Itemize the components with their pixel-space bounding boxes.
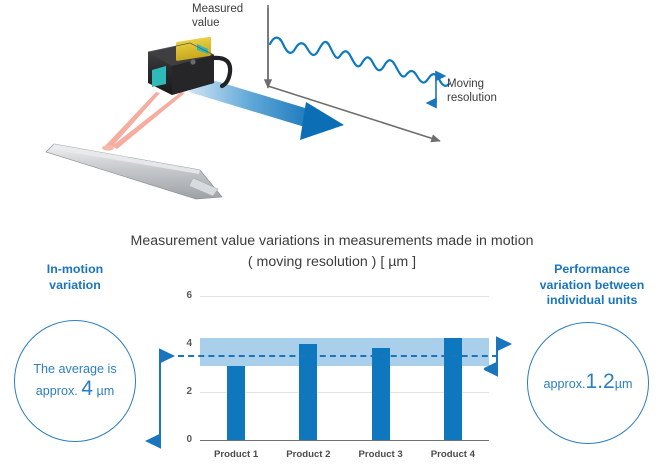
x-axis-category-label: Product 3	[346, 449, 416, 460]
y-axis-tick-label: 0	[178, 434, 192, 445]
in-motion-variation-heading: In-motion variation	[14, 262, 136, 293]
right-callout-unit: µm	[615, 377, 633, 391]
in-motion-variation-arrow	[140, 340, 180, 460]
x-axis-category-label: Product 4	[418, 449, 488, 460]
left-callout-value: 4	[81, 377, 93, 400]
bar	[372, 348, 390, 440]
right-callout-text: approx.1.2µm	[544, 371, 633, 395]
bar	[444, 338, 462, 440]
performance-variation-heading: Performance variation between individual…	[528, 262, 656, 309]
x-axis-category-label: Product 2	[273, 449, 343, 460]
left-callout-heading-line2: variation	[49, 278, 101, 292]
right-callout-heading-line3: individual units	[547, 293, 638, 307]
bar	[299, 344, 317, 440]
moving-resolution-label: Moving resolution	[447, 77, 537, 105]
measured-value-waveform-icon	[270, 38, 449, 86]
performance-variation-callout: approx.1.2µm	[527, 322, 649, 444]
laser-beam-icon	[102, 92, 185, 151]
measured-value-label: Measured value	[192, 2, 262, 30]
y-axis-tick-label: 6	[178, 290, 192, 301]
y-axis-tick-label: 4	[178, 338, 192, 349]
right-callout-heading-line2: variation between	[540, 278, 645, 292]
right-callout-heading-line1: Performance	[554, 262, 630, 276]
x-axis-category-label: Product 1	[201, 449, 271, 460]
left-callout-text-line2: approx. 4 µm	[36, 378, 114, 402]
left-callout-text-line1: The average is	[33, 360, 116, 378]
right-callout-value: 1.2	[586, 370, 615, 393]
in-motion-variation-callout: The average is approx. 4 µm	[14, 320, 136, 442]
moving-workpiece-strip-icon	[46, 144, 222, 199]
y-axis-tick-label: 2	[178, 386, 192, 397]
mean-value-line	[178, 355, 498, 357]
chart-title-line1: Measurement value variations in measurem…	[131, 233, 534, 249]
motion-direction-arrow-icon	[189, 75, 344, 140]
performance-variation-arrow	[484, 330, 514, 380]
x-axis-line	[200, 440, 489, 441]
bar	[227, 366, 245, 440]
left-callout-unit: µm	[96, 384, 114, 398]
illustration-svg	[0, 0, 664, 222]
top-illustration: Measured value Moving resolution	[0, 0, 664, 222]
left-callout-heading-line1: In-motion	[47, 262, 103, 276]
right-callout-prefix: approx.	[544, 377, 586, 391]
bar-chart: 0246Product 1Product 2Product 3Product 4	[178, 285, 498, 465]
gridline	[200, 296, 489, 297]
left-callout-prefix: approx.	[36, 384, 78, 398]
